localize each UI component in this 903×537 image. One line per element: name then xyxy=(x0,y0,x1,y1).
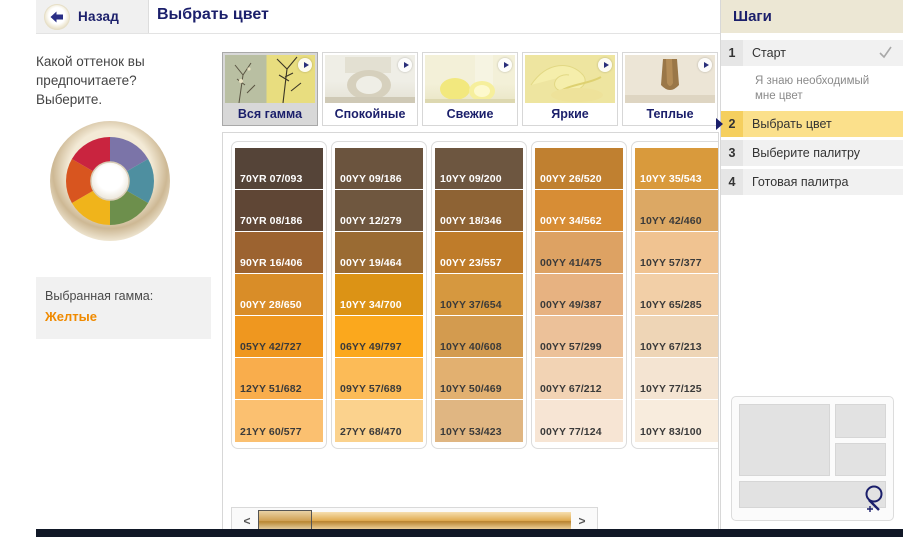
swatch-code: 00YY 19/464 xyxy=(340,257,402,269)
swatch[interactable]: 06YY 49/797 xyxy=(335,316,423,358)
swatch-code: 10YY 77/125 xyxy=(640,383,702,395)
swatch-code: 00YY 09/186 xyxy=(340,173,402,185)
magnifier-zoom-in-icon[interactable] xyxy=(861,483,887,518)
swatch-columns: 70YR 07/093 70YR 08/186 90YR 16/406 00YY… xyxy=(231,141,718,449)
swatch-code: 90YR 16/406 xyxy=(240,257,302,269)
swatch[interactable]: 00YY 41/475 xyxy=(535,232,623,274)
swatch-code: 10YY 35/543 xyxy=(640,173,702,185)
question-text: Какой оттенок вы предпочитаете? Выберите… xyxy=(36,52,196,109)
swatch[interactable]: 10YY 42/460 xyxy=(635,190,719,232)
toolbar-underline xyxy=(36,33,720,34)
swatch[interactable]: 27YY 68/470 xyxy=(335,400,423,442)
swatch-column: 00YY 09/186 00YY 12/279 00YY 19/464 10YY… xyxy=(331,141,427,449)
swatch-code: 10YY 83/100 xyxy=(640,426,702,438)
swatch-code: 12YY 51/682 xyxy=(240,383,302,395)
tab-thumbnail xyxy=(225,55,315,103)
swatch-column: 70YR 07/093 70YR 08/186 90YR 16/406 00YY… xyxy=(231,141,327,449)
tab-svezhie[interactable]: Свежие xyxy=(422,52,518,126)
swatch-code: 00YY 49/387 xyxy=(540,299,602,311)
tab-label: Теплые xyxy=(625,103,715,125)
swatch-code: 00YY 67/212 xyxy=(540,383,602,395)
sidebar-item-choose-palette[interactable]: 3 Выберите палитру xyxy=(721,140,903,166)
swatch[interactable]: 10YY 53/423 xyxy=(435,400,523,442)
swatch[interactable]: 00YY 12/279 xyxy=(335,190,423,232)
swatch-code: 00YY 57/299 xyxy=(540,341,602,353)
swatch-code: 00YY 34/562 xyxy=(540,215,602,227)
swatch[interactable]: 10YY 09/200 xyxy=(435,148,523,190)
swatch[interactable]: 00YY 57/299 xyxy=(535,316,623,358)
swatch-code: 10YY 57/377 xyxy=(640,257,702,269)
sidebar-item-choose-color[interactable]: 2 Выбрать цвет xyxy=(721,111,903,137)
step-number: 1 xyxy=(721,40,743,66)
selected-gamma-box: Выбранная гамма: Желтые xyxy=(36,277,211,339)
bottom-bar-left-gap xyxy=(0,529,36,537)
swatch-code: 10YY 42/460 xyxy=(640,215,702,227)
steps-list: 1 Старт Я знаю необходимый мне цвет 2 Вы… xyxy=(721,33,903,195)
steps-header: Шаги xyxy=(721,0,903,33)
swatch-code: 10YY 50/469 xyxy=(440,383,502,395)
swatch-column: 10YY 09/200 00YY 18/346 00YY 23/557 10YY… xyxy=(431,141,527,449)
play-icon[interactable] xyxy=(398,58,412,72)
swatch-code: 00YY 28/650 xyxy=(240,299,302,311)
swatch-code: 00YY 26/520 xyxy=(540,173,602,185)
swatch-code: 10YY 40/608 xyxy=(440,341,502,353)
swatch-code: 00YY 12/279 xyxy=(340,215,402,227)
step-number: 4 xyxy=(721,169,743,195)
step-label: Выберите палитру xyxy=(743,140,903,166)
swatch[interactable]: 10YY 77/125 xyxy=(635,358,719,400)
step-number: 3 xyxy=(721,140,743,166)
check-icon xyxy=(878,45,893,65)
swatch[interactable]: 00YY 23/557 xyxy=(435,232,523,274)
tab-teplye[interactable]: Теплые xyxy=(622,52,718,126)
swatch-code: 27YY 68/470 xyxy=(340,426,402,438)
tab-label: Спокойные xyxy=(325,103,415,125)
tab-thumbnail xyxy=(525,55,615,103)
swatch-code: 10YY 09/200 xyxy=(440,173,502,185)
swatch-panel: 70YR 07/093 70YR 08/186 90YR 16/406 00YY… xyxy=(222,132,719,537)
center-panel: Вся гамма Спокойные xyxy=(222,52,719,530)
swatch[interactable]: 10YY 65/285 xyxy=(635,274,719,316)
swatch[interactable]: 90YR 16/406 xyxy=(235,232,323,274)
selected-gamma-label: Выбранная гамма: xyxy=(45,289,211,303)
tab-thumbnail xyxy=(625,55,715,103)
play-icon[interactable] xyxy=(298,58,312,72)
swatch[interactable]: 10YY 34/700 xyxy=(335,274,423,316)
tab-label: Яркие xyxy=(525,103,615,125)
bottom-bar xyxy=(0,529,903,537)
color-picker-app: Назад Выбрать цвет Какой оттенок вы пред… xyxy=(0,0,903,537)
swatch[interactable]: 00YY 77/124 xyxy=(535,400,623,442)
swatch-code: 06YY 49/797 xyxy=(340,341,402,353)
swatch-code: 09YY 57/689 xyxy=(340,383,402,395)
swatch[interactable]: 10YY 35/543 xyxy=(635,148,719,190)
swatch[interactable]: 21YY 60/577 xyxy=(235,400,323,442)
swatch[interactable]: 10YY 57/377 xyxy=(635,232,719,274)
steps-panel: Шаги 1 Старт Я знаю необходимый мне цвет… xyxy=(720,0,903,537)
swatch[interactable]: 00YY 67/212 xyxy=(535,358,623,400)
color-wheel-icon[interactable] xyxy=(42,113,178,249)
swatch-code: 70YR 07/093 xyxy=(240,173,302,185)
swatch[interactable]: 10YY 83/100 xyxy=(635,400,719,442)
preview-tile-small-top xyxy=(835,404,886,438)
play-icon[interactable] xyxy=(598,58,612,72)
selected-gamma-value: Желтые xyxy=(45,309,211,324)
swatch[interactable]: 05YY 42/727 xyxy=(235,316,323,358)
preview-grid xyxy=(739,404,886,476)
swatch-column: 00YY 26/520 00YY 34/562 00YY 41/475 00YY… xyxy=(531,141,627,449)
swatch[interactable]: 09YY 57/689 xyxy=(335,358,423,400)
swatch-code: 10YY 67/213 xyxy=(640,341,702,353)
swatch-column: 10YY 35/543 10YY 42/460 10YY 57/377 10YY… xyxy=(631,141,719,449)
swatch-code: 00YY 23/557 xyxy=(440,257,502,269)
sidebar-item-final-palette[interactable]: 4 Готовая палитра xyxy=(721,169,903,195)
toolbar-divider xyxy=(148,0,149,33)
sidebar-item-start[interactable]: 1 Старт xyxy=(721,40,903,66)
swatch[interactable]: 10YY 67/213 xyxy=(635,316,719,358)
color-wheel-wrap xyxy=(36,131,184,243)
preview-tile-small-bottom xyxy=(835,443,886,477)
swatch-code: 70YR 08/186 xyxy=(240,215,302,227)
swatch[interactable]: 00YY 49/387 xyxy=(535,274,623,316)
swatch[interactable]: 70YR 08/186 xyxy=(235,190,323,232)
swatch-code: 00YY 41/475 xyxy=(540,257,602,269)
swatch-code: 05YY 42/727 xyxy=(240,341,302,353)
swatch-code: 10YY 65/285 xyxy=(640,299,702,311)
tab-vsya-gamma[interactable]: Вся гамма xyxy=(222,52,318,126)
swatch-code: 21YY 60/577 xyxy=(240,426,302,438)
play-icon[interactable] xyxy=(498,58,512,72)
tab-thumbnail xyxy=(325,55,415,103)
swatch[interactable]: 00YY 18/346 xyxy=(435,190,523,232)
back-button[interactable]: Назад xyxy=(36,0,148,33)
step-note: Я знаю необходимый мне цвет xyxy=(721,69,903,111)
preview-tiles-right xyxy=(835,404,886,476)
swatch-code: 10YY 34/700 xyxy=(340,299,402,311)
play-icon[interactable] xyxy=(698,58,712,72)
triangle-right-icon xyxy=(716,118,723,130)
tab-yarkie[interactable]: Яркие xyxy=(522,52,618,126)
swatch[interactable]: 00YY 34/562 xyxy=(535,190,623,232)
room-preview[interactable] xyxy=(731,396,894,521)
swatch-code: 10YY 53/423 xyxy=(440,426,502,438)
swatch[interactable]: 12YY 51/682 xyxy=(235,358,323,400)
left-panel: Какой оттенок вы предпочитаете? Выберите… xyxy=(36,52,216,243)
swatch-code: 00YY 18/346 xyxy=(440,215,502,227)
back-button-label: Назад xyxy=(78,9,119,24)
swatch[interactable]: 10YY 37/654 xyxy=(435,274,523,316)
category-tabs: Вся гамма Спокойные xyxy=(222,52,719,126)
swatch-code: 10YY 37/654 xyxy=(440,299,502,311)
step-number: 2 xyxy=(721,111,743,137)
swatch[interactable]: 00YY 28/650 xyxy=(235,274,323,316)
swatch-code: 00YY 77/124 xyxy=(540,426,602,438)
tab-label: Свежие xyxy=(425,103,515,125)
swatch[interactable]: 00YY 09/186 xyxy=(335,148,423,190)
swatch[interactable]: 70YR 07/093 xyxy=(235,148,323,190)
swatch[interactable]: 10YY 40/608 xyxy=(435,316,523,358)
tab-label: Вся гамма xyxy=(225,103,315,125)
preview-tile-large xyxy=(739,404,830,476)
step-label: Готовая палитра xyxy=(743,169,903,195)
arrow-left-icon xyxy=(44,4,70,30)
steps-title: Шаги xyxy=(733,8,772,25)
page-title: Выбрать цвет xyxy=(157,6,269,24)
scroll-track[interactable] xyxy=(258,512,571,530)
swatch[interactable]: 00YY 19/464 xyxy=(335,232,423,274)
tab-spokoynye[interactable]: Спокойные xyxy=(322,52,418,126)
swatch[interactable]: 00YY 26/520 xyxy=(535,148,623,190)
swatch[interactable]: 10YY 50/469 xyxy=(435,358,523,400)
step-label: Выбрать цвет xyxy=(743,111,903,137)
tab-thumbnail xyxy=(425,55,515,103)
